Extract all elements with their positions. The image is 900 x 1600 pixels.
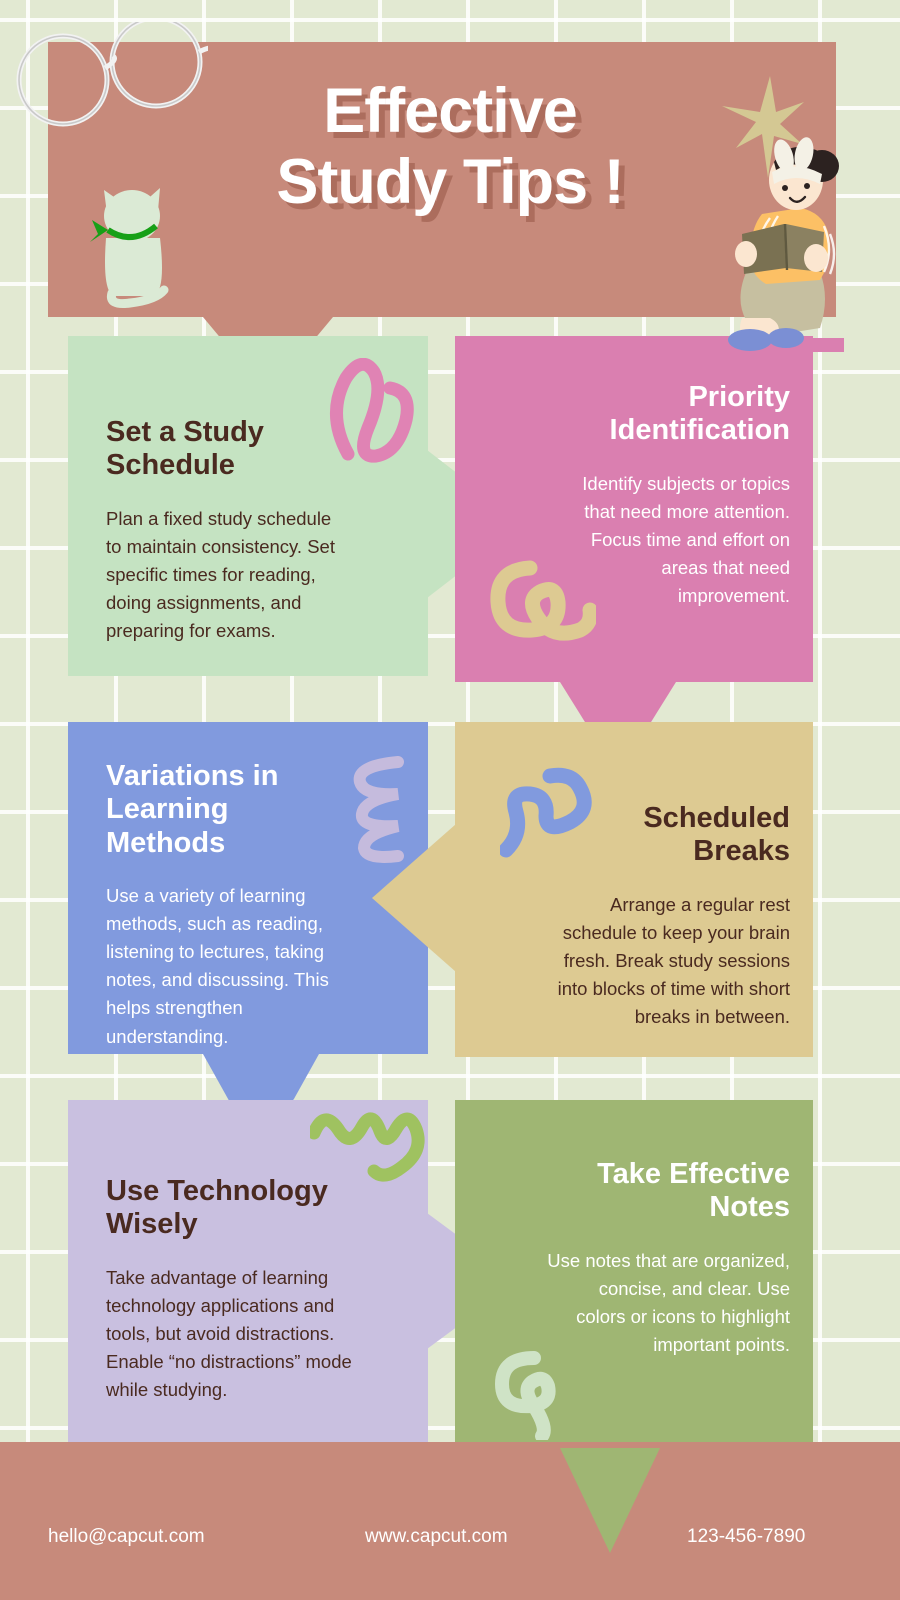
card-priority-identification[interactable]: Priority Identification Identify subject… — [455, 336, 813, 682]
card2-body: Identify subjects or topics that need mo… — [515, 470, 790, 611]
card6-body: Use notes that are organized, concise, a… — [515, 1247, 790, 1359]
card-use-technology-wisely[interactable]: Use Technology Wisely Take advantage of … — [68, 1100, 428, 1443]
card4-arrow-left — [372, 824, 456, 972]
card2-title: Priority Identification — [515, 381, 790, 448]
card4-title: Scheduled Breaks — [527, 802, 790, 869]
reading-person-illustration: HOME — [712, 122, 872, 362]
card6-pointer-triangle — [560, 1448, 660, 1553]
card1-title: Set a Study Schedule — [106, 416, 386, 483]
card3-body: Use a variety of learning methods, such … — [106, 882, 386, 1051]
card1-body: Plan a fixed study schedule to maintain … — [106, 505, 386, 646]
footer-bar: hello@capcut.com www.capcut.com 123-456-… — [0, 1442, 900, 1600]
footer-email[interactable]: hello@capcut.com — [48, 1526, 205, 1548]
card-set-a-study-schedule[interactable]: Set a Study Schedule Plan a fixed study … — [68, 336, 428, 676]
card3-title: Variations in Learning Methods — [106, 760, 386, 860]
footer-phone[interactable]: 123-456-7890 — [687, 1526, 805, 1548]
card-take-effective-notes[interactable]: Take Effective Notes Use notes that are … — [455, 1100, 813, 1448]
card-scheduled-breaks[interactable]: Scheduled Breaks Arrange a regular rest … — [455, 722, 813, 1057]
footer-website[interactable]: www.capcut.com — [365, 1526, 508, 1548]
card5-title: Use Technology Wisely — [106, 1175, 386, 1242]
card6-title: Take Effective Notes — [515, 1158, 790, 1225]
infographic-poster: HOME Effective Study Tips ! Set a Study … — [0, 0, 900, 1600]
card5-body: Take advantage of learning technology ap… — [106, 1264, 386, 1405]
card4-body: Arrange a regular rest schedule to keep … — [527, 891, 790, 1032]
